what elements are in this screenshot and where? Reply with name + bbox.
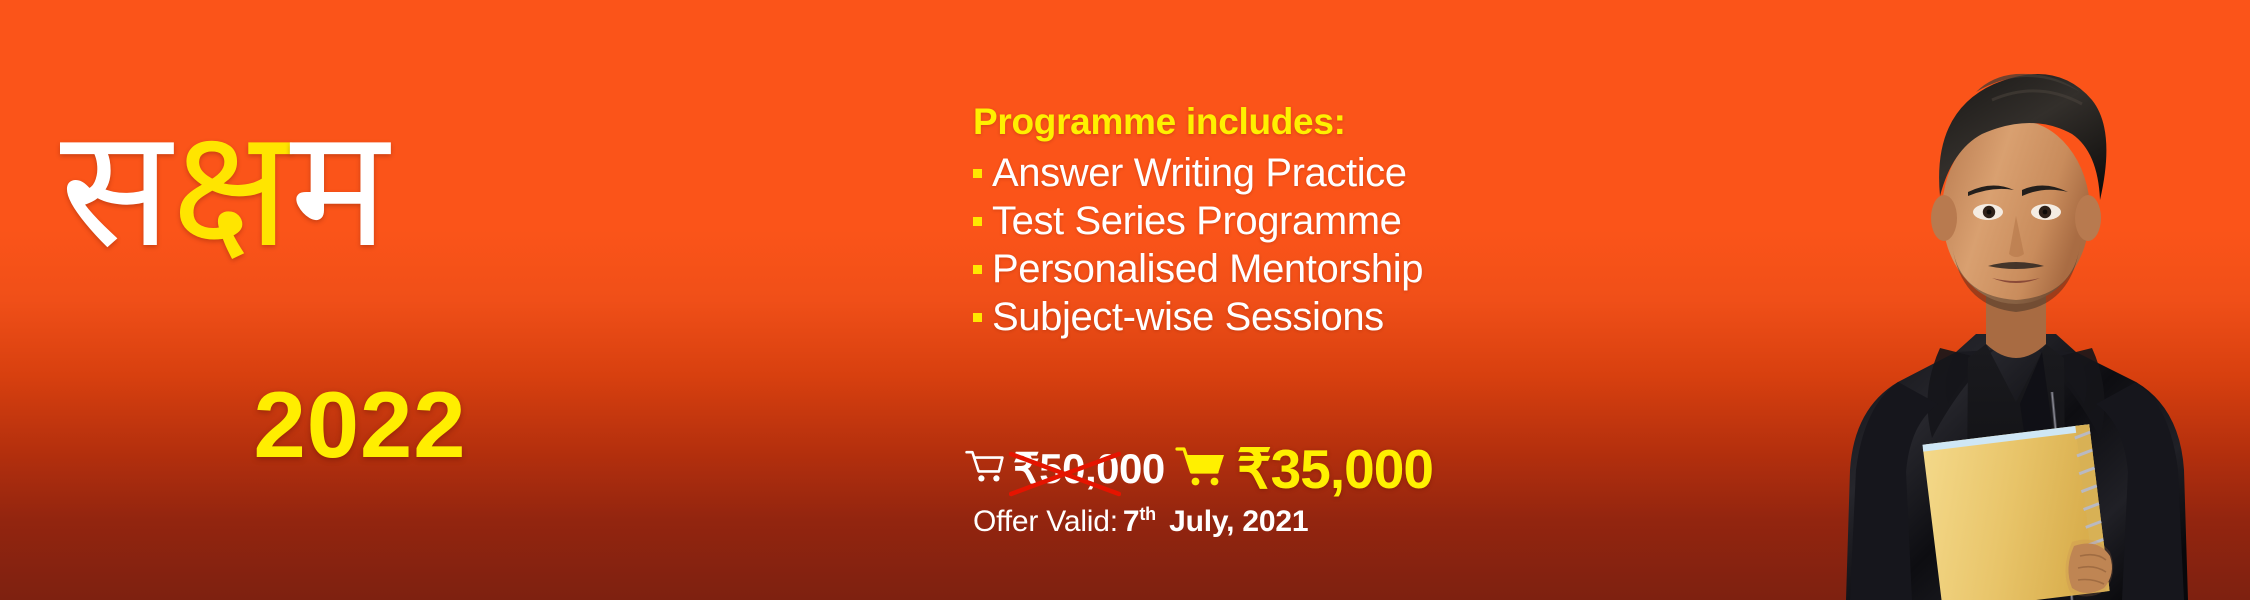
offer-validity-day-suffix: th — [1139, 504, 1156, 524]
brand-hindi-part1: स — [60, 96, 172, 280]
list-item: Test Series Programme — [973, 198, 1423, 243]
list-item: Personalised Mentorship — [973, 246, 1423, 291]
student-photo — [1780, 0, 2250, 600]
feature-label: Subject-wise Sessions — [992, 296, 1384, 338]
brand-block: सक्षम 2022 — [0, 0, 700, 600]
new-price-value: ₹35,000 — [1237, 441, 1433, 497]
old-price-value: ₹50,000 — [1013, 447, 1165, 491]
shopping-cart-icon — [965, 450, 1005, 489]
square-bullet-icon — [973, 169, 982, 178]
feature-list: Answer Writing Practice Test Series Prog… — [973, 150, 1423, 342]
new-price-group: ₹35,000 — [1175, 441, 1433, 497]
shopping-cart-icon — [1175, 446, 1227, 493]
brand-year: 2022 — [60, 378, 660, 472]
offer-validity-label: Offer Valid: — [973, 505, 1118, 538]
programme-details-block: Programme includes: Answer Writing Pract… — [965, 0, 1605, 600]
feature-label: Test Series Programme — [992, 200, 1402, 242]
list-item: Answer Writing Practice — [973, 150, 1423, 195]
old-price-group: ₹50,000 — [965, 447, 1165, 491]
promo-banner: सक्षम 2022 Programme includes: Answer Wr… — [0, 0, 2250, 600]
square-bullet-icon — [973, 265, 982, 274]
offer-validity: Offer Valid:7th July, 2021 — [973, 505, 1308, 539]
square-bullet-icon — [973, 217, 982, 226]
list-item: Subject-wise Sessions — [973, 294, 1423, 339]
programme-includes-heading: Programme includes: — [973, 102, 1346, 142]
feature-label: Personalised Mentorship — [992, 248, 1423, 290]
price-row: ₹50,000 ₹35,000 — [965, 437, 1433, 501]
brand-hindi-highlight: क्ष — [172, 96, 290, 280]
brand-hindi-part2: म — [290, 96, 389, 280]
feature-label: Answer Writing Practice — [992, 152, 1407, 194]
offer-validity-month-year: July, 2021 — [1169, 505, 1308, 538]
brand-hindi-wordmark: सक्षम — [60, 108, 660, 288]
offer-validity-day: 7 — [1123, 505, 1140, 538]
square-bullet-icon — [973, 313, 982, 322]
